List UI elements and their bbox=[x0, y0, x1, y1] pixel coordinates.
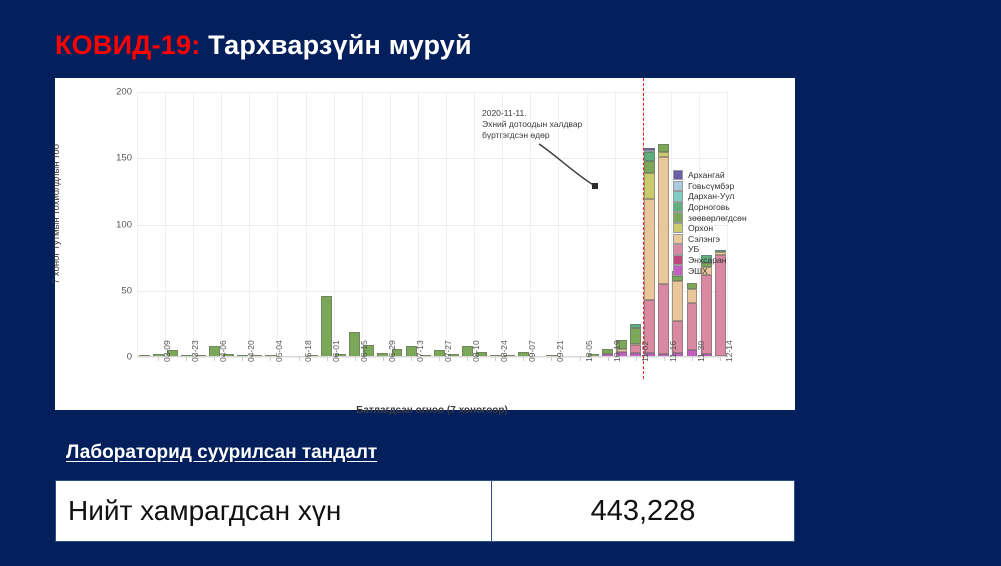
y-tick-label: 50 bbox=[121, 285, 132, 296]
stat-label-cell: Нийт хамрагдсан хүн bbox=[56, 481, 492, 541]
page-title: КОВИД-19: Тархварзүйн муруй bbox=[55, 30, 472, 61]
x-tick-mark bbox=[355, 357, 356, 361]
bar-segment-Сэлэнгэ bbox=[644, 199, 655, 300]
legend-swatch-icon bbox=[673, 191, 683, 201]
x-tick-label: 10-19 bbox=[612, 340, 622, 362]
page-title-prefix: КОВИД-19: bbox=[55, 30, 200, 60]
x-tick-label: 06-01 bbox=[331, 340, 341, 362]
legend-label: Дорноговь bbox=[688, 202, 730, 212]
x-tick-label: 07-13 bbox=[415, 340, 425, 362]
x-tick-label: 11-02 bbox=[640, 341, 650, 362]
legend-label: Энхсаран bbox=[688, 255, 727, 265]
y-axis-title-text: 7 хоног тутмын тохиолдлын тоо bbox=[51, 114, 62, 314]
x-tick-mark bbox=[608, 357, 609, 361]
stat-value-cell: 443,228 bbox=[492, 481, 794, 541]
legend-label: ЭШХ bbox=[688, 266, 708, 276]
legend-item-Сэлэнгэ[interactable]: Сэлэнгэ bbox=[673, 234, 747, 245]
legend-item-Энхсаран[interactable]: Энхсаран bbox=[673, 255, 747, 266]
bar-segment-Дорноговь bbox=[644, 152, 655, 161]
page-title-rest: Тархварзүйн муруй bbox=[200, 30, 471, 60]
section-heading: Лабораторид суурилсан тандалт bbox=[66, 442, 377, 464]
x-tick-mark bbox=[214, 357, 215, 361]
legend-item-УБ[interactable]: УБ bbox=[673, 244, 747, 255]
legend-label: Архангай bbox=[688, 170, 725, 180]
legend-swatch-icon bbox=[673, 244, 683, 254]
x-tick-label: 06-29 bbox=[387, 340, 397, 362]
x-tick-mark bbox=[383, 357, 384, 361]
bar-segment-Сэлэнгэ bbox=[672, 281, 683, 321]
legend-swatch-icon bbox=[673, 170, 683, 180]
legend-swatch-icon bbox=[673, 234, 683, 244]
x-tick-label: 11-16 bbox=[668, 341, 678, 362]
x-tick-mark bbox=[636, 357, 637, 361]
x-tick-label: 03-23 bbox=[190, 340, 200, 362]
x-tick-mark bbox=[523, 357, 524, 361]
event-marker-line bbox=[643, 78, 644, 379]
y-tick-label: 100 bbox=[116, 219, 132, 230]
x-tick-mark bbox=[551, 357, 552, 361]
legend-item-Дорноговь[interactable]: Дорноговь bbox=[673, 202, 747, 213]
stat-label-text: Нийт хамрагдсан хүн bbox=[68, 495, 341, 527]
bar-segment-Дорноговь bbox=[630, 324, 641, 328]
x-tick-mark bbox=[495, 357, 496, 361]
chart-legend: АрхангайГовьсүмбэрДархан-УулДорноговьзөө… bbox=[673, 170, 747, 276]
stats-table: Нийт хамрагдсан хүн 443,228 bbox=[55, 480, 795, 542]
legend-label: Орхон bbox=[688, 223, 713, 233]
legend-label: Сэлэнгэ bbox=[688, 234, 720, 244]
x-tick-label: 05-18 bbox=[303, 340, 313, 362]
x-tick-label: 07-27 bbox=[443, 340, 453, 362]
bar-segment-зөөвөрлөгдсөн bbox=[644, 161, 655, 173]
bar-segment-Архангай bbox=[644, 148, 655, 151]
bar-segment-Сэлэнгэ bbox=[687, 289, 698, 302]
x-tick-label: 03-09 bbox=[162, 340, 172, 362]
x-tick-label: 09-21 bbox=[555, 340, 565, 362]
x-tick-label: 09-07 bbox=[527, 340, 537, 362]
legend-swatch-icon bbox=[673, 202, 683, 212]
x-tick-mark bbox=[411, 357, 412, 361]
x-tick-mark bbox=[692, 357, 693, 361]
legend-swatch-icon bbox=[673, 223, 683, 233]
legend-label: УБ bbox=[688, 244, 699, 254]
plot-area: 050100150200 03-0903-2304-0604-2005-0405… bbox=[137, 92, 727, 357]
bar-11-16 bbox=[658, 144, 669, 357]
x-tick-mark bbox=[327, 357, 328, 361]
legend-item-зөөвөрлөгдсөн[interactable]: зөөвөрлөгдсөн bbox=[673, 212, 747, 223]
bar-segment-зөөвөрлөгдсөн bbox=[672, 276, 683, 281]
legend-item-Говьсүмбэр[interactable]: Говьсүмбэр bbox=[673, 181, 747, 192]
legend-swatch-icon bbox=[673, 181, 683, 191]
x-tick-label: 10-05 bbox=[584, 340, 594, 362]
legend-label: Дархан-Уул bbox=[688, 191, 734, 201]
bar-11-09 bbox=[644, 148, 655, 357]
x-axis-title: Батлагдсан огноо (7 хоногоор) bbox=[137, 405, 727, 416]
x-tick-label: 04-06 bbox=[218, 340, 228, 362]
legend-item-Дархан-Уул[interactable]: Дархан-Уул bbox=[673, 191, 747, 202]
x-tick-label: 06-15 bbox=[359, 340, 369, 362]
x-tick-label: 11-30 bbox=[696, 341, 706, 362]
y-tick-label: 200 bbox=[116, 87, 132, 98]
bar-segment-Сэлэнгэ bbox=[658, 157, 669, 284]
bar-series-group bbox=[137, 92, 727, 357]
legend-label: Говьсүмбэр bbox=[688, 181, 734, 191]
legend-item-Орхон[interactable]: Орхон bbox=[673, 223, 747, 234]
epidemic-curve-chart: 7 хоног тутмын тохиолдлын тоо 0501001502… bbox=[55, 78, 795, 410]
x-tick-mark bbox=[242, 357, 243, 361]
x-tick-mark bbox=[720, 357, 721, 361]
legend-swatch-icon bbox=[673, 265, 683, 275]
x-tick-mark bbox=[299, 357, 300, 361]
y-tick-label: 0 bbox=[127, 352, 132, 363]
event-annotation: 2020-11-11. Эхний дотоодын халдвар бүртг… bbox=[482, 108, 582, 142]
x-tick-mark bbox=[158, 357, 159, 361]
stat-value-text: 443,228 bbox=[591, 495, 696, 528]
x-tick-mark bbox=[467, 357, 468, 361]
y-tick-label: 150 bbox=[116, 153, 132, 164]
legend-swatch-icon bbox=[673, 212, 683, 222]
bar-segment-зөөвөрлөгдсөн bbox=[687, 283, 698, 290]
bar-segment-Орхон bbox=[644, 173, 655, 200]
x-tick-label: 08-24 bbox=[499, 340, 509, 362]
x-tick-mark bbox=[270, 357, 271, 361]
legend-item-ЭШХ[interactable]: ЭШХ bbox=[673, 265, 747, 276]
x-tick-label: 05-04 bbox=[274, 340, 284, 362]
annotation-arrow-icon bbox=[537, 142, 607, 194]
y-axis-title: 7 хоног тутмын тохиолдлын тоо bbox=[51, 0, 65, 118]
legend-label: зөөвөрлөгдсөн bbox=[688, 213, 747, 223]
legend-swatch-icon bbox=[673, 255, 683, 265]
x-tick-label: 04-20 bbox=[246, 340, 256, 362]
x-tick-mark bbox=[439, 357, 440, 361]
x-tick-label: 08-10 bbox=[471, 340, 481, 362]
x-tick-mark bbox=[664, 357, 665, 361]
x-tick-label: 12-14 bbox=[724, 340, 734, 362]
x-tick-mark bbox=[186, 357, 187, 361]
bar-segment-зөөвөрлөгдсөн bbox=[658, 144, 669, 152]
x-tick-mark bbox=[580, 357, 581, 361]
legend-item-Архангай[interactable]: Архангай bbox=[673, 170, 747, 181]
bar-segment-Орхон bbox=[658, 152, 669, 157]
